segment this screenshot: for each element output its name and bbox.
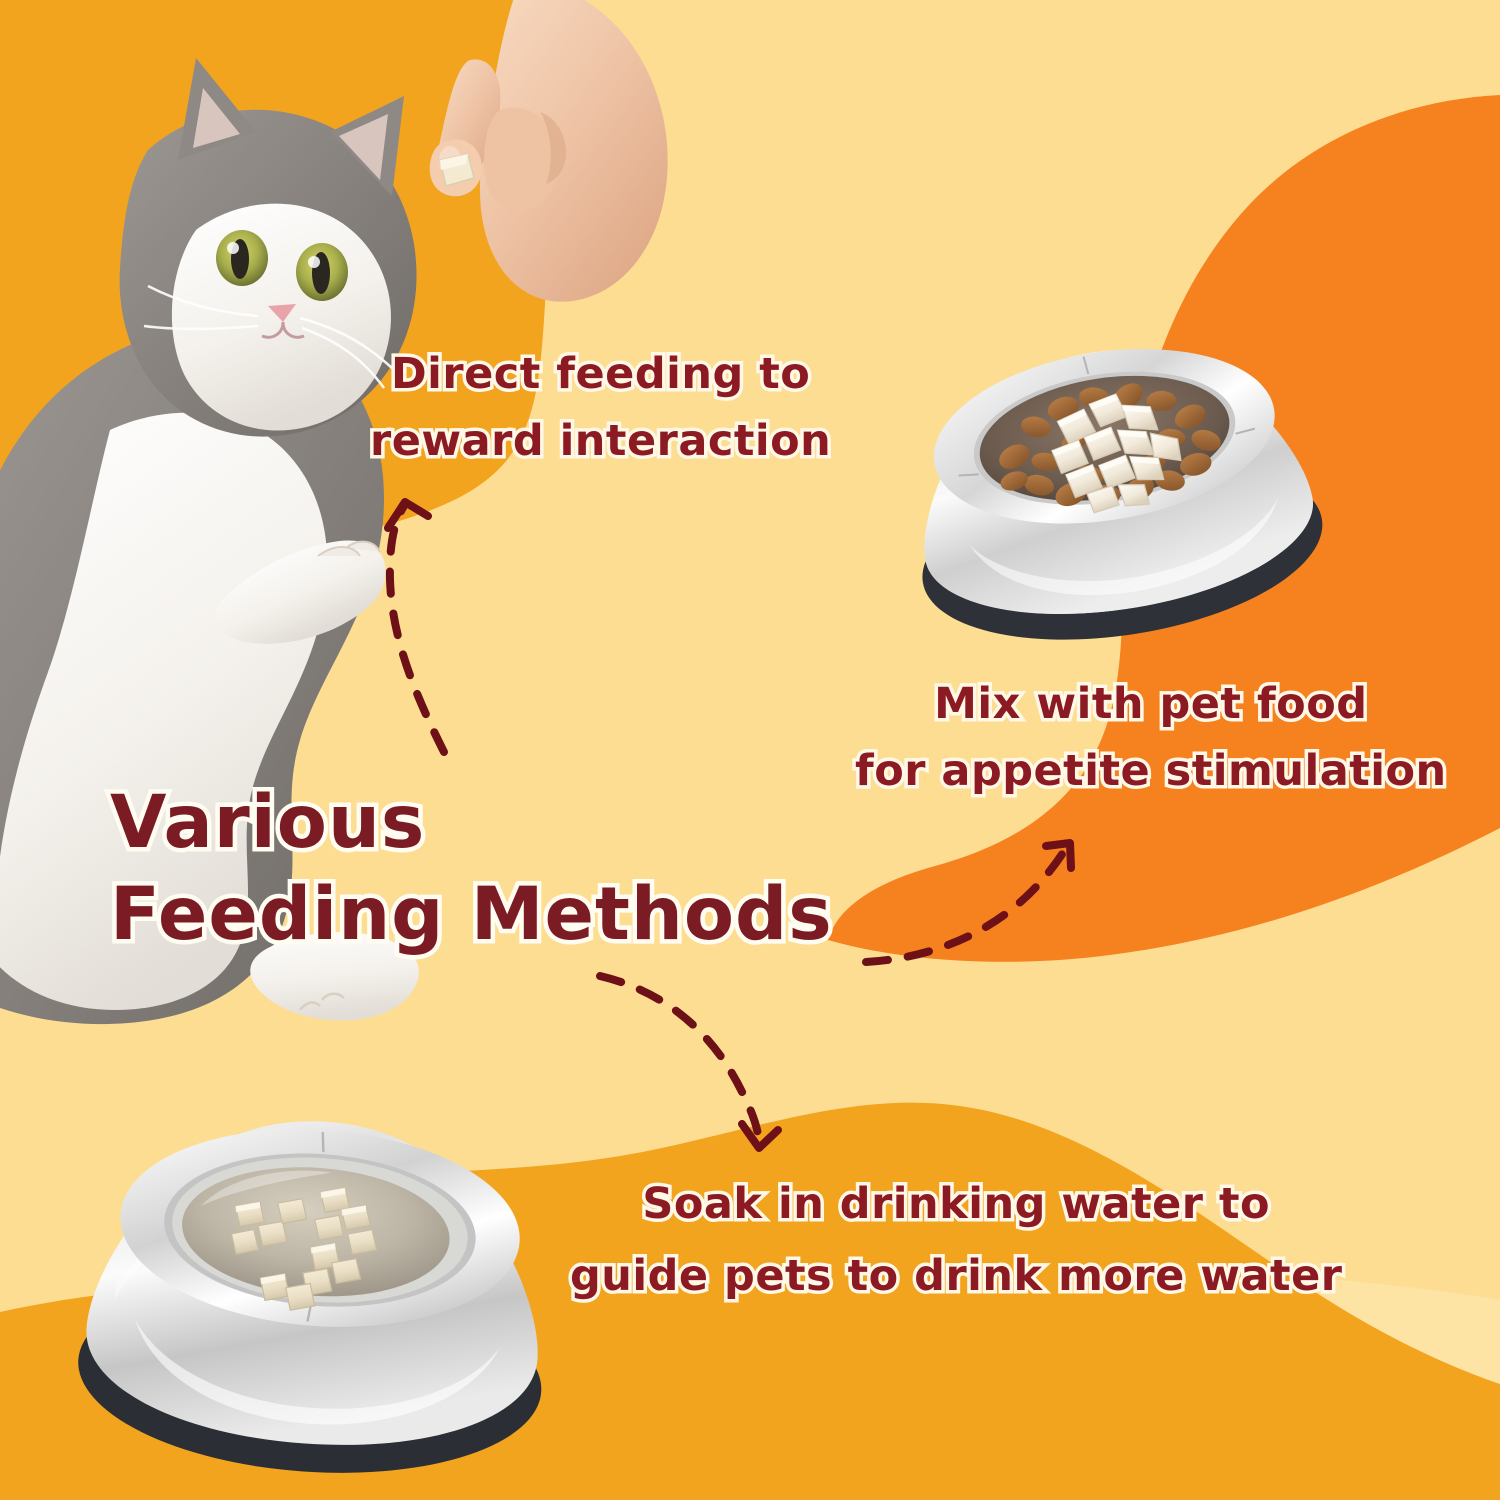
page-title-line1: Various bbox=[110, 780, 833, 866]
arrow-to-mix-with-food-path bbox=[866, 848, 1066, 962]
page-title: Various Feeding Methods bbox=[110, 780, 833, 958]
arrow-to-direct-feeding-path bbox=[390, 506, 444, 752]
callout-soak-in-water-line1: Soak in drinking water to bbox=[570, 1178, 1342, 1230]
arrow-to-direct-feeding-head bbox=[388, 502, 428, 528]
callout-soak-in-water: Soak in drinking water to guide pets to … bbox=[570, 1178, 1342, 1303]
callout-soak-in-water-line2: guide pets to drink more water bbox=[570, 1250, 1342, 1302]
callout-direct-feeding-line2: reward interaction bbox=[370, 415, 831, 467]
callout-direct-feeding: Direct feeding to reward interaction bbox=[370, 348, 831, 468]
infographic-poster: Direct feeding to reward interaction Mix… bbox=[0, 0, 1500, 1500]
callout-mix-with-food: Mix with pet food for appetite stimulati… bbox=[855, 678, 1447, 798]
page-title-line2: Feeding Methods bbox=[110, 872, 833, 958]
callout-mix-with-food-line2: for appetite stimulation bbox=[855, 745, 1447, 797]
callout-mix-with-food-line1: Mix with pet food bbox=[855, 678, 1447, 730]
arrow-to-soak-in-water-path bbox=[600, 976, 758, 1134]
callout-direct-feeding-line1: Direct feeding to bbox=[370, 348, 831, 400]
